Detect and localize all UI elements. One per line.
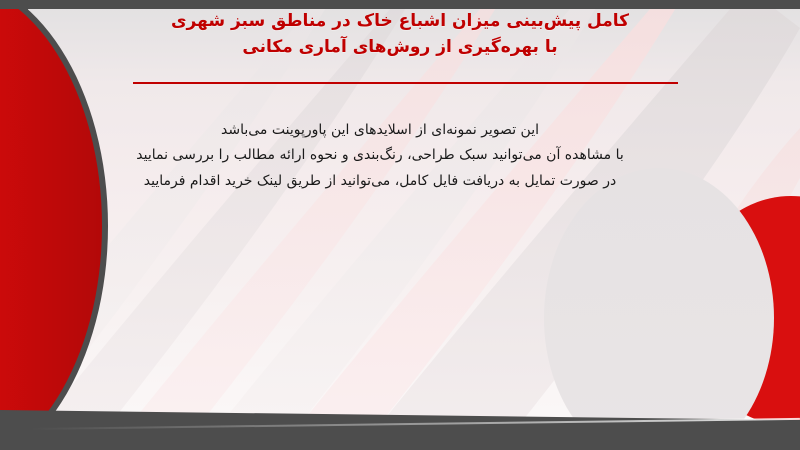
slide-body-line-1: این تصویر نمونه‌ای از اسلایدهای این پاور… [100, 118, 660, 143]
slide-body-text: این تصویر نمونه‌ای از اسلایدهای این پاور… [100, 118, 660, 194]
slide-body-line-2: با مشاهده آن می‌توانید سبک طراحی، رنگ‌بن… [100, 143, 660, 168]
title-underline-rule [133, 82, 678, 84]
slide-title: کامل پیش‌بینی میزان اشباع خاک در مناطق س… [120, 8, 680, 61]
presentation-slide: کامل پیش‌بینی میزان اشباع خاک در مناطق س… [0, 0, 800, 450]
slide-title-line-1: کامل پیش‌بینی میزان اشباع خاک در مناطق س… [120, 8, 680, 34]
slide-body-line-3: در صورت تمایل به دریافت فایل کامل، می‌تو… [100, 169, 660, 194]
slide-title-line-2: با بهره‌گیری از روش‌های آماری مکانی [120, 34, 680, 60]
